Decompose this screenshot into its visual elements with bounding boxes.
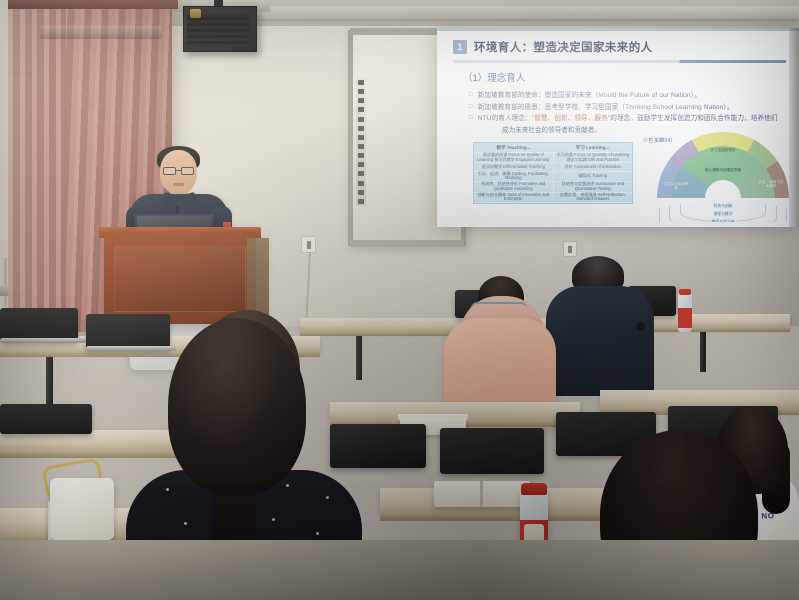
table-cell: 辅导式 Tutoring — [553, 172, 633, 181]
table-cell: 形成性、总结性评价 Formative and Qualitative Asse… — [474, 182, 553, 191]
table-cell: 差异化教学 Differentiated Teaching — [474, 163, 553, 170]
arc-caption-3: 教师与学习者 — [710, 220, 737, 222]
floor — [0, 540, 799, 600]
slide-title: 环境育人：塑造决定国家未来的人 — [474, 39, 653, 55]
table-cell: 学习质量 Focus on Quantity of Learning 理论与实践… — [553, 153, 633, 162]
bullet-marker-icon: □ — [469, 102, 473, 114]
table-cell: 高质量的授课 Focus on Quality of Learning 参与式教… — [474, 153, 553, 162]
classroom-photo: 1 环境育人：塑造决定国家未来的人 （1）理念育人 □ 新加坡教育部的使命：塑造… — [0, 0, 799, 600]
table-col-header: 学习 Learning... — [553, 143, 632, 152]
bullet-text-lead: NTU的育人理念： — [478, 115, 532, 122]
desk-edge — [0, 450, 200, 458]
attendee-navy-polo-body — [546, 286, 654, 396]
arch-label-right: 信息、媒体与技术素养 — [757, 180, 785, 189]
podium-front-panel — [114, 246, 246, 312]
speaker-grille — [187, 14, 249, 46]
water-bottle-cap — [521, 483, 547, 495]
slide-title-rule — [453, 60, 786, 63]
speaker-badge — [190, 9, 201, 18]
slide-comparison-table: 教学 Teaching... 学习 Learning... 高质量的授课 Foc… — [473, 142, 633, 204]
chair-frame — [0, 338, 86, 343]
slide-section-number: 1 — [453, 40, 467, 54]
table-row: 高质量的授课 Focus on Quality of Learning 参与式教… — [474, 153, 632, 163]
attendee-foreground-head — [168, 318, 306, 494]
slide-bullet-list: □ 新加坡教育部的使命：塑造国家的未来（Mould the Future of … — [469, 90, 792, 136]
table-cell: 自我反思、持续改进 Self-Reflection, Standard Answ… — [553, 193, 633, 202]
wall-outlet-icon-left — [301, 236, 316, 253]
desk-edge — [380, 512, 620, 521]
bottle-back-cap — [679, 289, 691, 295]
list-item: □ 新加坡教育部的愿景：思考型学校、学习型国家（Thinking School … — [469, 102, 792, 114]
curtain-secondary — [8, 0, 66, 332]
table-cell: 创新与创业精神 Spirit of Innovation and Enterpr… — [474, 193, 553, 202]
desk-leg — [700, 332, 706, 372]
bullet-text-en: （Thinking School Learning Nation） — [618, 104, 727, 111]
table-cell: 引导、促进、建模 Guiding, Facilitating, Modeling — [474, 172, 553, 181]
arch-diagram: 学习型国家理念 核心课程与创造性思维 生活与价值观教育 信息、媒体与技术素养 科… — [657, 132, 789, 212]
arch-label-top: 学习型国家理念 — [703, 148, 743, 152]
wall-outlet-icon-right — [563, 241, 577, 257]
presenter-glasses-left-lens — [163, 167, 176, 175]
bullet-text-emphasis: "智慧、创新、领导、服务" — [532, 115, 611, 122]
bullet-marker-icon: □ — [469, 90, 473, 102]
chair-frame — [86, 346, 176, 351]
whiteboard-bottom-rail — [350, 240, 464, 247]
notebook-spine — [480, 481, 483, 507]
chair-left-1[interactable] — [0, 308, 78, 342]
bullet-text-cn: 新加坡教育部的愿景：思考型学校、学习型国家 — [478, 104, 619, 111]
slide-subsection: （1）理念育人 — [463, 70, 792, 84]
presenter-glasses-right-lens — [181, 167, 194, 175]
arch-label-mid: 核心课程与创造性思维 — [703, 168, 743, 172]
bullet-text-tail: 。 — [694, 92, 701, 99]
bullet-text-rest: 的理念，鼓励学生发挥创造力和团队合作能力，培养他们 — [610, 115, 777, 122]
list-item: □ 新加坡教育部的使命：塑造国家的未来（Mould the Future of … — [469, 90, 792, 102]
screen-right-edge — [789, 28, 799, 227]
arc-caption-1: 科技与创新 — [712, 204, 735, 209]
chair-center-2[interactable] — [440, 428, 544, 474]
whiteboard-icon-strip[interactable] — [356, 78, 366, 206]
list-item: □ NTU的育人理念："智慧、创新、领导、服务"的理念，鼓励学生发挥创造力和团队… — [469, 113, 792, 125]
bullet-text-cn: 新加坡教育部的使命：塑造国家的未来 — [478, 92, 592, 99]
bottle-back-label — [678, 308, 692, 328]
table-col-header: 教学 Teaching... — [474, 143, 553, 152]
curtain-tieback — [40, 26, 162, 39]
table-row: 创新与创业精神 Spirit of Innovation and Enterpr… — [474, 193, 632, 203]
table-cell: 总结性与定量测评 Summative and Quantitative Test… — [553, 182, 633, 191]
ceiling-beam — [255, 6, 799, 19]
chair-left-3[interactable] — [0, 404, 92, 434]
desk-leg — [356, 336, 362, 380]
curtain-rod — [8, 0, 178, 9]
presenter-glasses-bridge — [176, 170, 181, 171]
table-cell: 评价 Assessment of Instruction — [553, 163, 633, 170]
arch-label-left: 生活与价值观教育 — [663, 182, 689, 191]
chair-center-1[interactable] — [330, 424, 426, 468]
pen-on-desk[interactable] — [636, 322, 645, 331]
arc-caption-2: 课程与教学 — [712, 212, 735, 217]
slide-header: 1 环境育人：塑造决定国家未来的人 — [447, 34, 792, 55]
presentation-slide: 1 环境育人：塑造决定国家未来的人 （1）理念育人 □ 新加坡教育部的使命：塑造… — [447, 34, 792, 222]
bullet-text-en: （Mould the Future of our Nation） — [592, 92, 695, 99]
presenter-mouth — [173, 183, 184, 186]
hoodie-drawcord — [470, 302, 528, 310]
handbag[interactable] — [50, 478, 114, 540]
bullet-text-tail: 。 — [727, 104, 734, 111]
chair-left-2[interactable] — [86, 314, 170, 350]
bullet-marker-icon: □ — [469, 113, 473, 125]
